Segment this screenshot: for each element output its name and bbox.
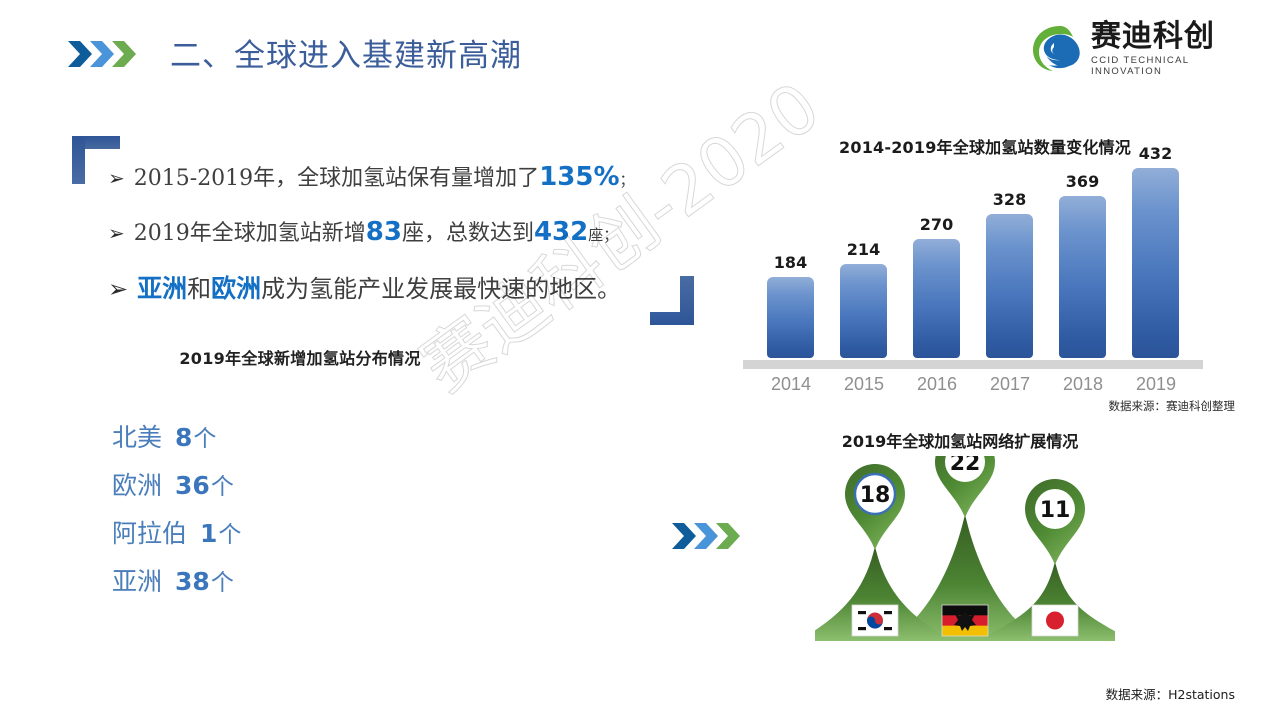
bar-value-label: 328 (993, 190, 1026, 209)
x-axis-tick-labels: 201420152016201720182019 (745, 374, 1215, 400)
bullet-arrow-icon: ➢ (108, 223, 125, 243)
pin-mountain-svg: 182211 (815, 456, 1115, 671)
x-axis-tick-label: 2017 (975, 374, 1045, 395)
bullet-arrow-icon: ➢ (108, 277, 128, 301)
region-value: 1 (200, 519, 217, 548)
bullet-text-part: 和 (187, 275, 211, 303)
map-pin-marker: 18 (845, 464, 905, 550)
pin-value-label: 11 (1040, 498, 1071, 523)
bar-column: 184 (767, 277, 814, 358)
map-pin-marker: 22 (935, 456, 995, 518)
chart-baseline-axis (743, 360, 1203, 369)
bullet-item: ➢ 亚洲和欧洲成为氢能产业发展最快速的地区。 (108, 269, 621, 305)
x-axis-tick-label: 2014 (756, 374, 826, 395)
bar-column: 270 (913, 239, 960, 358)
region-name: 阿拉伯 (112, 514, 187, 550)
region-unit: 个 (211, 563, 234, 597)
bracket-arm-horizontal (84, 136, 120, 149)
region-value: 38 (175, 567, 210, 596)
bar-column: 432 (1132, 168, 1179, 358)
x-axis-tick-label: 2019 (1121, 374, 1191, 395)
bar-plot-area: 184214270328369432 (745, 168, 1215, 358)
bullet-item: ➢ 2015-2019年，全球加氢站保有量增加了135%； (108, 160, 635, 192)
bar-column: 369 (1059, 196, 1106, 358)
brand-logo: 赛迪科创 CCID TECHNICAL INNOVATION (1030, 20, 1246, 78)
chart-source-note: 数据来源：H2stations (735, 684, 1241, 703)
flag-germany-icon (942, 605, 988, 637)
x-axis-tick-label: 2016 (902, 374, 972, 395)
bullet-text-part: ； (620, 171, 635, 189)
region-unit: 个 (211, 467, 234, 501)
bullet-text-part: 座，总数达到 (402, 221, 534, 246)
bar-rect (986, 214, 1033, 358)
bullet-text: 亚洲和欧洲成为氢能产业发展最快速的地区。 (137, 269, 621, 305)
chart-source-note: 数据来源：赛迪科创整理 (735, 398, 1241, 414)
bullet-highlight-word: 欧洲 (211, 274, 261, 303)
bullet-text: 2019年全球加氢站新增83座，总数达到432座； (134, 215, 619, 247)
region-list: 北美 8 个 欧洲 36 个 阿拉伯 1 个 亚洲 38 个 (112, 418, 520, 610)
bullet-highlight-word: 亚洲 (137, 274, 187, 303)
bar-value-label: 214 (847, 240, 880, 259)
region-name: 亚洲 (112, 562, 162, 598)
bracket-arm-vertical (72, 136, 85, 184)
x-axis-tick-label: 2015 (829, 374, 899, 395)
ccid-swirl-logo-icon (1030, 23, 1084, 75)
region-unit: 个 (193, 419, 216, 453)
logo-name: 赛迪科创 (1091, 21, 1246, 53)
bar-column: 214 (840, 264, 887, 358)
bar-value-label: 184 (774, 253, 807, 272)
pin-mountain-graphic: 182211 (815, 456, 1115, 671)
list-item: 欧洲 36 个 (112, 466, 520, 514)
flag-japan-icon (1032, 605, 1078, 636)
bullet-text: 2015-2019年，全球加氢站保有量增加了135%； (134, 160, 635, 192)
bullet-highlight-value: 432 (534, 217, 588, 247)
bullet-text-part: 2019年全球加氢站新增 (134, 221, 366, 246)
pin-value-label: 18 (860, 483, 891, 508)
x-axis-tick-label: 2018 (1048, 374, 1118, 395)
chart-title: 2019年全球加氢站网络扩展情况 (735, 428, 1185, 452)
region-unit: 个 (218, 515, 241, 549)
bullet-panel: ➢ 2015-2019年，全球加氢站保有量增加了135%； ➢ 2019年全球加… (72, 136, 682, 346)
bullet-text-part: 座； (588, 226, 618, 244)
bar-rect (767, 277, 814, 358)
logo-tagline: CCID TECHNICAL INNOVATION (1091, 55, 1246, 77)
bullet-item: ➢ 2019年全球加氢站新增83座，总数达到432座； (108, 215, 618, 247)
bullet-highlight-value: 83 (366, 217, 402, 247)
logo-text: 赛迪科创 CCID TECHNICAL INNOVATION (1091, 21, 1246, 78)
bar-value-label: 369 (1066, 172, 1099, 191)
network-expansion-chart: 2019年全球加氢站网络扩展情况 182211 (670, 428, 1235, 693)
bar-rect (840, 264, 887, 358)
bar-rect (1132, 168, 1179, 358)
hydrogen-station-bar-chart: 2014-2019年全球加氢站数量变化情况 184214270328369432… (735, 134, 1235, 414)
region-value: 8 (175, 423, 192, 452)
slide-header: 二、全球进入基建新高潮 赛迪科创 CCID TECHNICAL INNOVATI… (0, 0, 1280, 100)
triple-chevron-right-icon (66, 38, 138, 70)
chart-title: 2019年全球新增加氢站分布情况 (100, 345, 500, 369)
corner-bracket-bottom-right (650, 276, 694, 324)
page-title: 二、全球进入基建新高潮 (170, 30, 522, 75)
region-value: 36 (175, 471, 210, 500)
region-name: 欧洲 (112, 466, 162, 502)
flag-south-korea-icon (852, 605, 898, 636)
bar-value-label: 270 (920, 215, 953, 234)
bracket-arm-vertical (680, 276, 694, 325)
bar-rect (913, 239, 960, 358)
bar-column: 328 (986, 214, 1033, 358)
list-item: 北美 8 个 (112, 418, 520, 466)
bar-value-label: 432 (1139, 144, 1172, 163)
bullet-highlight-value: 135% (539, 162, 619, 192)
region-distribution-chart: 2019年全球新增加氢站分布情况 北美 8 个 欧洲 36 个 阿拉伯 1 个 … (100, 345, 520, 610)
list-item: 阿拉伯 1 个 (112, 514, 520, 562)
bar-rect (1059, 196, 1106, 358)
triple-chevron-right-icon (670, 520, 742, 552)
pin-value-label: 22 (950, 456, 981, 476)
bullet-arrow-icon: ➢ (108, 168, 125, 188)
map-pin-marker: 11 (1025, 479, 1085, 565)
bullet-text-part: 成为氢能产业发展最快速的地区。 (261, 275, 621, 303)
list-item: 亚洲 38 个 (112, 562, 520, 610)
bullet-text-part: 2015-2019年，全球加氢站保有量增加了 (134, 166, 539, 191)
region-name: 北美 (112, 418, 162, 454)
